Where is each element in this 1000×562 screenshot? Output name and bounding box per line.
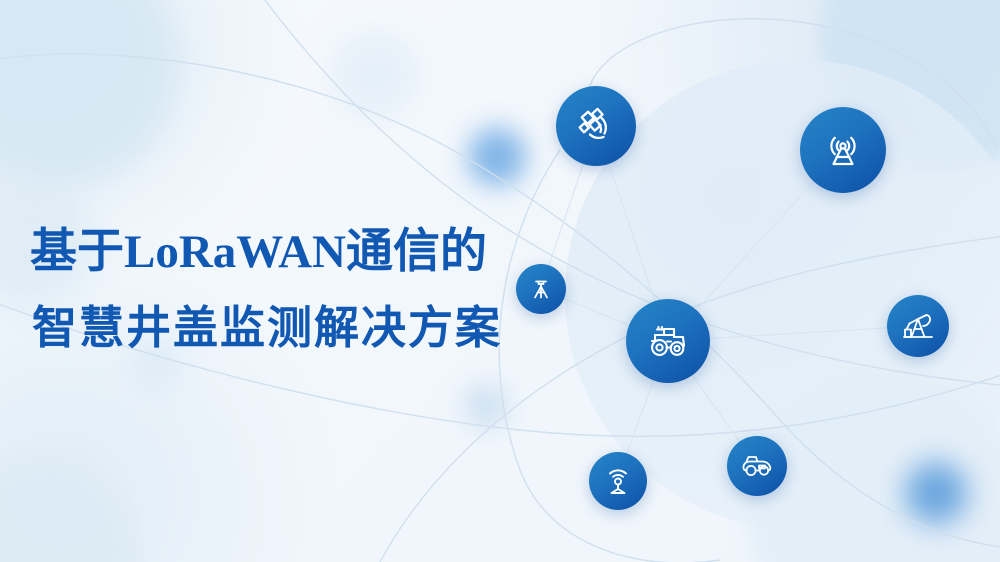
node-tractor[interactable]	[626, 299, 710, 383]
radio-tower-icon	[819, 126, 867, 174]
node-sensor[interactable]	[589, 452, 647, 510]
survey-tripod-icon	[527, 275, 555, 303]
background-blob	[750, 372, 1000, 562]
accent-dot	[905, 462, 967, 524]
page-title-line-1: 基于LoRaWAN通信的	[30, 228, 502, 278]
accent-dot	[462, 382, 510, 430]
accent-dot	[468, 128, 526, 186]
wireless-sensor-icon	[601, 464, 635, 498]
satellite-signal-icon	[574, 104, 618, 148]
slide-canvas: 基于LoRaWAN通信的 智慧井盖监测解决方案	[0, 0, 1000, 562]
background-blob	[0, 0, 180, 190]
node-antenna[interactable]	[800, 107, 886, 193]
page-title-line-2: 智慧井盖监测解决方案	[32, 304, 502, 352]
tractor-icon	[643, 316, 693, 366]
node-robot[interactable]	[727, 436, 787, 496]
node-satellite[interactable]	[556, 86, 636, 166]
node-pumpjack[interactable]	[887, 295, 949, 357]
title-block: 基于LoRaWAN通信的 智慧井盖监测解决方案	[30, 228, 502, 352]
background-blob	[330, 30, 420, 120]
oil-pumpjack-icon	[899, 307, 937, 345]
background-blob	[760, 420, 930, 562]
node-tripod[interactable]	[516, 264, 566, 314]
background-blob	[0, 460, 140, 562]
robot-mower-icon	[739, 448, 775, 484]
